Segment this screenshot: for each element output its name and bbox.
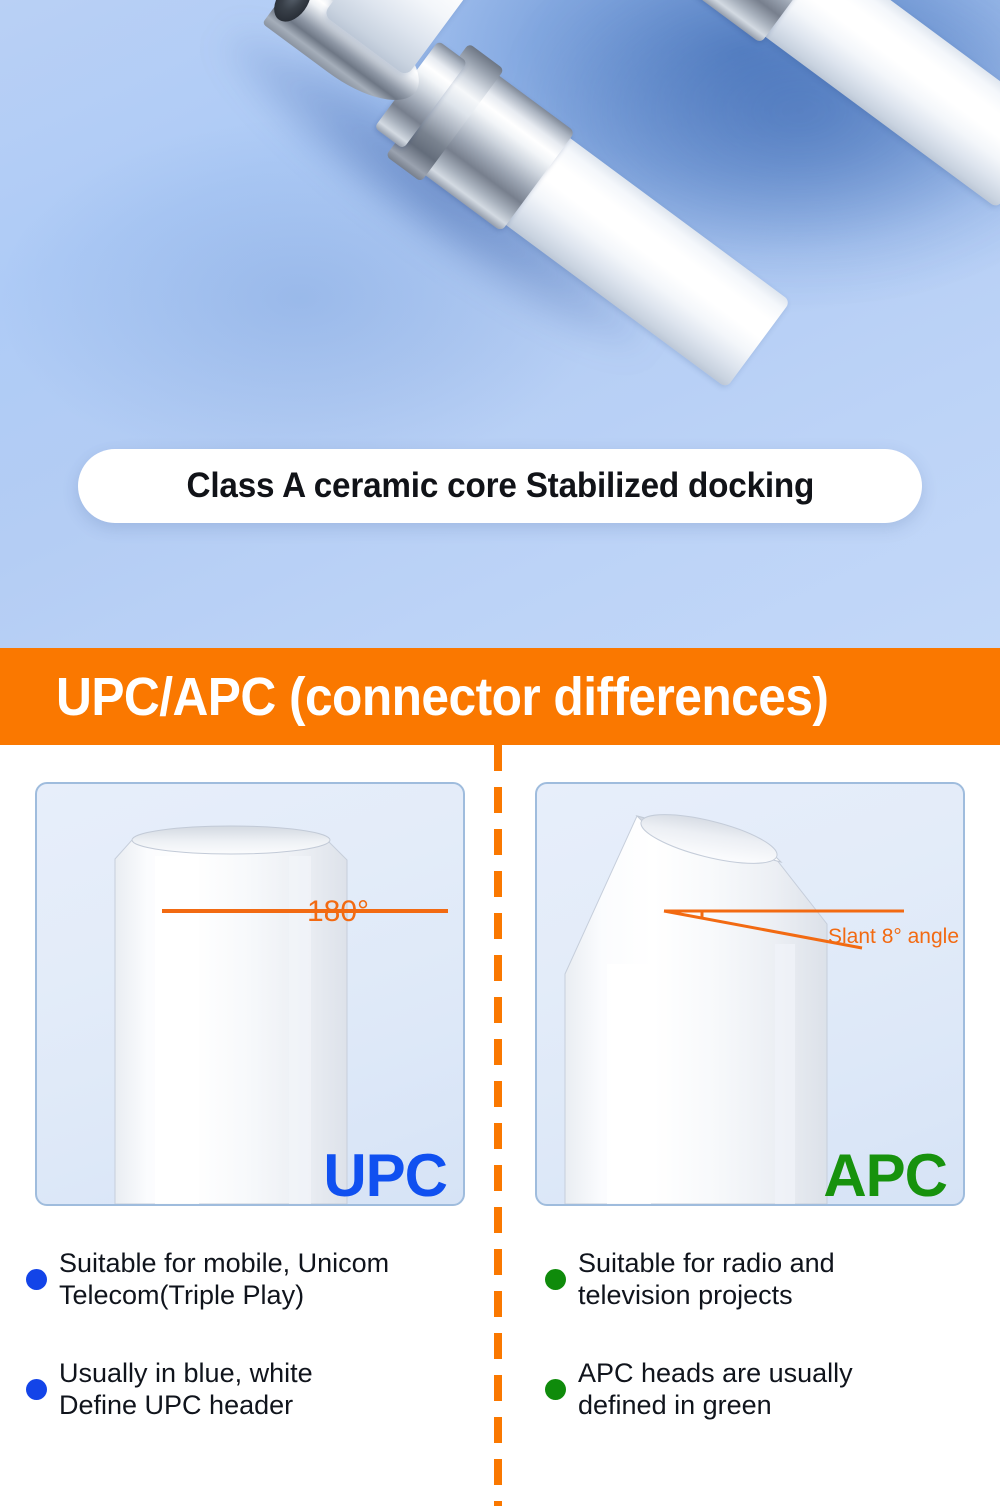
hero-headline-text: Class A ceramic core Stabilized docking <box>186 466 814 506</box>
upc-bullet-column: Suitable for mobile, Unicom Telecom(Trip… <box>26 1248 496 1467</box>
bullet-line-2: Define UPC header <box>59 1390 293 1420</box>
bullet-dot-icon <box>26 1379 47 1400</box>
hero-headline-pill: Class A ceramic core Stabilized docking <box>78 449 922 523</box>
list-item: Suitable for mobile, Unicom Telecom(Trip… <box>26 1248 496 1312</box>
bullet-dot-icon <box>26 1269 47 1290</box>
upc-illustration-card: UPC <box>35 782 465 1206</box>
bullet-line-2: television projects <box>578 1280 793 1310</box>
list-item: Suitable for radio and television projec… <box>545 1248 995 1312</box>
bullet-dot-icon <box>545 1269 566 1290</box>
bullet-line-2: defined in green <box>578 1390 772 1420</box>
bullet-text: APC heads are usually defined in green <box>578 1358 853 1422</box>
bullet-line-1: Suitable for mobile, Unicom <box>59 1248 389 1278</box>
apc-bullet-column: Suitable for radio and television projec… <box>545 1248 995 1467</box>
upc-angle-line <box>160 898 450 924</box>
bullet-line-1: APC heads are usually <box>578 1358 853 1388</box>
bullet-text: Usually in blue, white Define UPC header <box>59 1358 313 1422</box>
bullet-line-2: Telecom(Triple Play) <box>59 1280 304 1310</box>
list-item: APC heads are usually defined in green <box>545 1358 995 1422</box>
apc-angle-annotation: Slant 8° angle <box>828 925 959 949</box>
hero-section: Class A ceramic core Stabilized docking <box>0 0 1000 648</box>
apc-illustration-card: APC <box>535 782 965 1206</box>
bullet-text: Suitable for radio and television projec… <box>578 1248 835 1312</box>
bullet-line-1: Suitable for radio and <box>578 1248 835 1278</box>
bullet-dot-icon <box>545 1379 566 1400</box>
section-banner-title: UPC/APC (connector differences) <box>56 666 828 728</box>
upc-angle-annotation: 180° <box>307 895 369 929</box>
section-banner: UPC/APC (connector differences) <box>0 648 1000 745</box>
bullet-text: Suitable for mobile, Unicom Telecom(Trip… <box>59 1248 389 1312</box>
upc-label: UPC <box>323 1141 447 1206</box>
apc-label: APC <box>823 1141 947 1206</box>
bullet-line-1: Usually in blue, white <box>59 1358 313 1388</box>
list-item: Usually in blue, white Define UPC header <box>26 1358 496 1422</box>
